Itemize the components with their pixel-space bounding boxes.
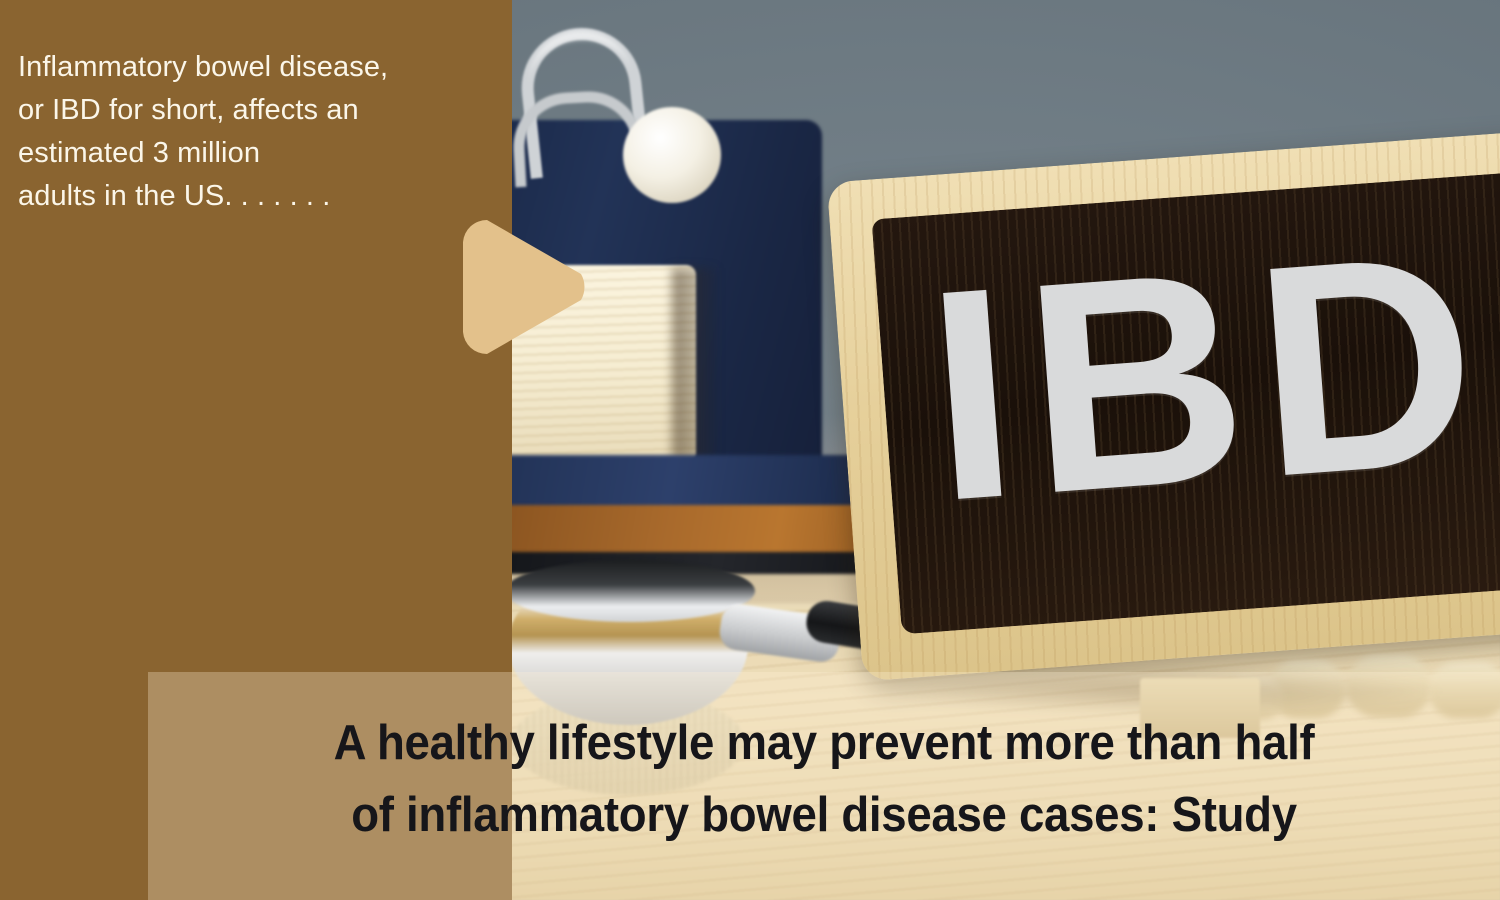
stethoscope-eartip — [623, 107, 721, 203]
play-triangle-icon — [463, 212, 597, 362]
play-button[interactable] — [463, 212, 597, 362]
description-text: Inflammatory bowel disease, or IBD for s… — [18, 46, 498, 218]
caption-headline: A healthy lifestyle may prevent more tha… — [212, 707, 1436, 851]
video-player[interactable]: IBD Inflammatory bowel disease, or IBD f… — [0, 0, 1500, 900]
navy-notebook-spine — [505, 455, 875, 510]
sign-label: IBD — [919, 191, 1500, 561]
ibd-wooden-sign: IBD — [827, 131, 1500, 681]
stethoscope-chestpiece-rim — [505, 560, 755, 622]
notebook-page-shadow — [672, 268, 716, 460]
caption-band: A healthy lifestyle may prevent more tha… — [148, 672, 1500, 900]
